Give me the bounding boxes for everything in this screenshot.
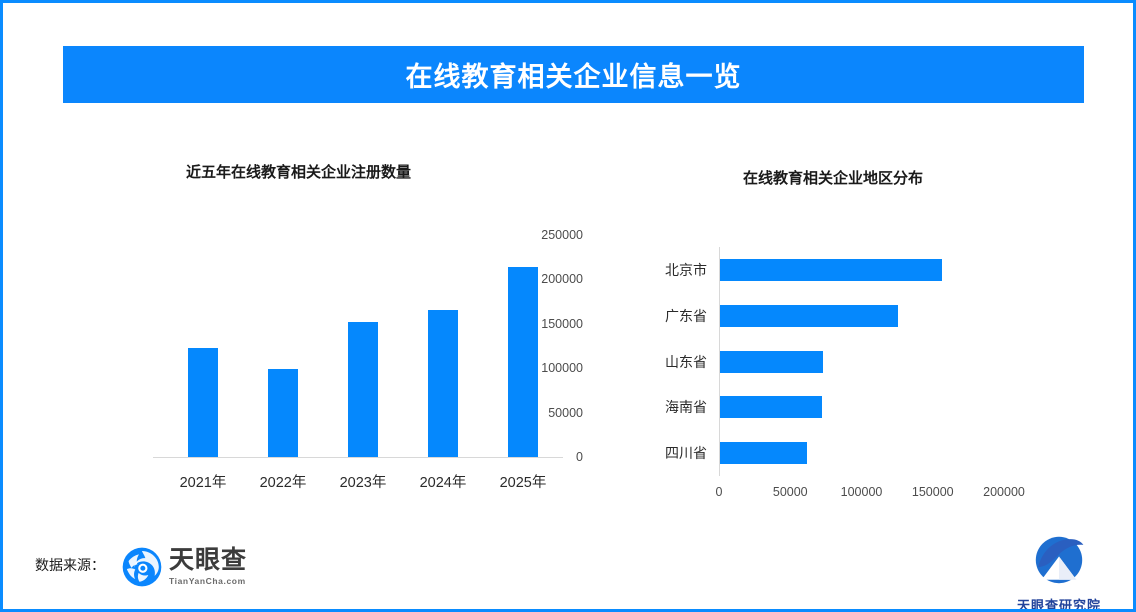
left-chart-title: 近五年在线教育相关企业注册数量: [186, 161, 411, 182]
x-axis-category-label: 2021年: [180, 471, 227, 492]
x-axis-tick-label: 200000: [983, 485, 1025, 499]
bar: [720, 442, 807, 464]
y-axis-category-label: 海南省: [627, 397, 707, 417]
institute-name: 天眼查研究院: [1007, 595, 1111, 612]
bar: [348, 322, 378, 457]
x-axis-category-label: 2024年: [420, 471, 467, 492]
bar: [720, 351, 823, 373]
bar: [268, 369, 298, 457]
tianyancha-eye-logo-icon: [121, 546, 163, 588]
x-axis-tick-label: 100000: [841, 485, 883, 499]
tianyancha-name-en: TianYanCha.com: [169, 576, 247, 586]
tianyancha-institute-logo: 天眼查研究院: [1007, 531, 1111, 612]
region-distribution-bar-chart: 北京市广东省山东省海南省四川省050000100000150000200000: [623, 233, 1083, 513]
x-axis-category-label: 2025年: [500, 471, 547, 492]
bar: [720, 259, 942, 281]
registration-count-bar-chart: 0500001000001500002000002500002021年2022年…: [83, 213, 583, 503]
tianyancha-wordmark: 天眼查 TianYanCha.com: [169, 548, 247, 586]
page-header-banner: 在线教育相关企业信息一览: [63, 46, 1084, 103]
bar: [508, 267, 538, 457]
bar: [428, 310, 458, 457]
tianyancha-name-cn: 天眼查: [169, 548, 247, 573]
right-chart-title: 在线教育相关企业地区分布: [743, 167, 923, 188]
tianyancha-logo: 天眼查 TianYanCha.com: [121, 546, 247, 588]
x-axis-category-label: 2023年: [340, 471, 387, 492]
x-axis-category-label: 2022年: [260, 471, 307, 492]
y-axis-tick-label: 250000: [513, 228, 583, 242]
bar: [720, 396, 822, 418]
y-axis-category-label: 北京市: [627, 260, 707, 280]
y-axis-category-label: 广东省: [627, 306, 707, 326]
page-title: 在线教育相关企业信息一览: [406, 55, 742, 94]
y-axis-category-label: 四川省: [627, 443, 707, 463]
x-axis-line: [153, 457, 563, 458]
x-axis-tick-label: 50000: [773, 485, 808, 499]
y-axis-category-label: 山东省: [627, 352, 707, 372]
bar: [188, 348, 218, 457]
infographic-page: 在线教育相关企业信息一览 近五年在线教育相关企业注册数量 在线教育相关企业地区分…: [0, 0, 1136, 612]
bar: [720, 305, 898, 327]
x-axis-tick-label: 0: [716, 485, 723, 499]
tianyancha-institute-logo-icon: [1030, 531, 1088, 589]
data-source-label: 数据来源：: [35, 555, 105, 575]
x-axis-tick-label: 150000: [912, 485, 954, 499]
